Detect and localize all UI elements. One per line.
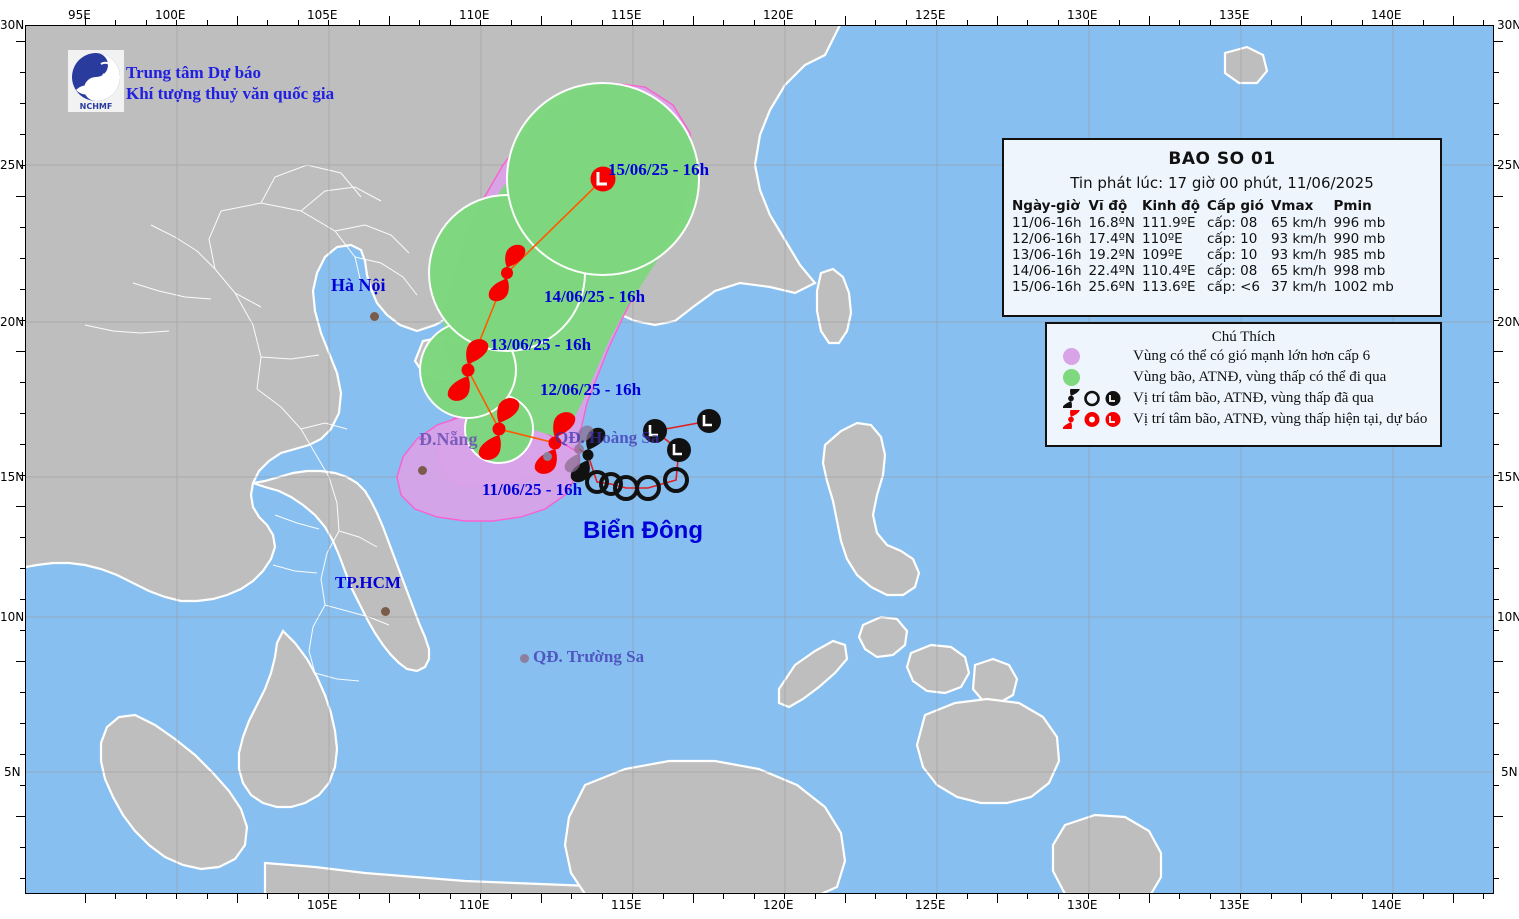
lat-tick-right [1494, 289, 1499, 290]
cell-category: cấp: 10 [1207, 247, 1271, 263]
col-pmin: Pmin [1334, 198, 1401, 215]
lon-tick [115, 20, 116, 25]
leyte-landmass [973, 659, 1017, 703]
lon-tick-bottom [663, 894, 664, 899]
lon-tick [784, 20, 785, 25]
lon-tick [815, 20, 816, 25]
table-row: 12/06-16h 17.4ºN 110ºE cấp: 10 93 km/h 9… [1012, 231, 1401, 247]
lon-tick-bottom [389, 894, 390, 903]
lon-tick-bottom [1179, 894, 1180, 899]
lat-label-right-20N: 20N [1497, 315, 1519, 329]
table-row: 15/06-16h 25.6ºN 113.6ºE cấp: <6 37 km/h… [1012, 279, 1401, 295]
green-circle-icon [1063, 369, 1080, 386]
lat-tick-right [1494, 847, 1499, 848]
lat-tick [16, 41, 25, 42]
lon-tick-bottom [1423, 894, 1424, 899]
forecast-label-11-06: 11/06/25 - 16h [482, 480, 582, 500]
lat-label-right-30N: 30N [1497, 18, 1519, 32]
lon-label-115E: 115E [611, 8, 642, 22]
lat-tick [20, 103, 25, 104]
col-lat: Vĩ độ [1089, 198, 1143, 215]
lon-tick [693, 16, 694, 25]
lon-tick [1119, 20, 1120, 25]
lon-tick [723, 20, 724, 25]
lon-tick-bottom [875, 894, 876, 899]
cell-pmin: 990 mb [1334, 231, 1401, 247]
cell-category: cấp: <6 [1207, 279, 1271, 295]
legend-swatch-green-circle [1055, 369, 1133, 386]
lon-tick [480, 20, 481, 25]
lon-tick [906, 20, 907, 25]
nchmf-logo-svg: NCHMF [68, 50, 124, 112]
lat-tick [16, 661, 25, 662]
lat-tick-right [1494, 320, 1499, 321]
lon-tick [936, 20, 937, 25]
lat-tick-right [1494, 599, 1499, 600]
legend-label-wind-zone: Vùng có thể có gió mạnh lớn hơn cấp 6 [1133, 348, 1370, 365]
legend-panel: Chú Thích Vùng có thể có gió mạnh lớn hơ… [1045, 322, 1442, 447]
lat-tick [20, 692, 25, 693]
lon-tick [419, 20, 420, 25]
lon-label-bottom-115E: 115E [611, 898, 642, 912]
lon-tick [571, 20, 572, 25]
lon-tick-bottom [1058, 894, 1059, 899]
lon-label-120E: 120E [763, 8, 794, 22]
legend-swatch-violet-circle [1055, 348, 1133, 365]
lon-tick-bottom [1210, 894, 1211, 899]
lat-tick-right [1494, 72, 1499, 73]
lat-tick [20, 568, 25, 569]
lat-label-left-15N: 15N [0, 470, 24, 484]
lon-label-105E: 105E [307, 8, 338, 22]
lat-label-right-25N: 25N [1497, 158, 1519, 172]
lon-tick [359, 20, 360, 25]
lon-tick-bottom [997, 894, 998, 903]
lon-tick-bottom [1271, 894, 1272, 899]
lon-tick [1027, 20, 1028, 25]
lat-tick [16, 816, 25, 817]
low-red-icon [1106, 412, 1121, 427]
lon-tick-bottom [1483, 894, 1484, 899]
lat-tick-right [1494, 258, 1499, 259]
lon-tick [845, 16, 846, 25]
lon-tick [602, 20, 603, 25]
lon-tick [1301, 16, 1302, 25]
cell-lat: 17.4ºN [1089, 231, 1143, 247]
lat-tick [20, 72, 25, 73]
lat-label-left-30N: 30N [0, 18, 24, 32]
lon-tick-bottom [146, 894, 147, 899]
lat-tick-right [1494, 568, 1499, 569]
cell-lat: 16.8ºN [1089, 215, 1143, 231]
lat-tick [20, 878, 25, 879]
lon-tick [267, 20, 268, 25]
legend-swatch-red-symbols [1055, 410, 1133, 429]
lat-tick [20, 754, 25, 755]
lon-label-bottom-105E: 105E [307, 898, 338, 912]
lon-tick-bottom [328, 894, 329, 899]
lon-tick [389, 16, 390, 25]
lat-tick-right [1494, 661, 1503, 662]
cell-pmin: 996 mb [1334, 215, 1401, 231]
storm-title: BAO SO 01 [1004, 149, 1440, 169]
lat-tick-right [1494, 475, 1499, 476]
cell-pmin: 1002 mb [1334, 279, 1401, 295]
lon-tick-bottom [1088, 894, 1089, 899]
city-label-tphcm: TP.HCM [335, 573, 401, 593]
low-black-icon [1106, 391, 1121, 406]
lat-tick [20, 599, 25, 600]
lat-tick [20, 227, 25, 228]
legend-swatch-black-symbols [1055, 389, 1133, 408]
nchmf-logo: NCHMF [68, 50, 124, 112]
cell-vmax: 93 km/h [1271, 231, 1334, 247]
island-label-truongsa: QĐ. Trường Sa [533, 647, 644, 667]
lon-tick-bottom [1331, 894, 1332, 899]
forecast-label-13-06: 13/06/25 - 16h [490, 335, 591, 355]
lon-tick-bottom [450, 894, 451, 899]
lon-tick [967, 20, 968, 25]
lat-tick [20, 320, 25, 321]
cell-lon: 111.9ºE [1142, 215, 1207, 231]
forecast-table-header-row: Ngày-giờ Vĩ độ Kinh độ Cấp gió Vmax Pmin [1012, 198, 1401, 215]
lon-tick-bottom [723, 894, 724, 899]
cell-datetime: 14/06-16h [1012, 263, 1089, 279]
lon-label-bottom-130E: 130E [1067, 898, 1098, 912]
lon-tick [1271, 20, 1272, 25]
lat-tick-right [1494, 878, 1499, 879]
lon-tick [1149, 16, 1150, 25]
lat-label-right-15N: 15N [1497, 470, 1519, 484]
lat-tick-right [1494, 165, 1499, 166]
lat-tick [20, 444, 25, 445]
legend-row-wind-zone: Vùng có thể có gió mạnh lớn hơn cấp 6 [1055, 346, 1440, 367]
sea-name-label: Biển Đông [583, 517, 703, 545]
lat-tick [16, 196, 25, 197]
cell-category: cấp: 08 [1207, 215, 1271, 231]
org-name-caption: Trung tâm Dự báo Khí tượng thuỷ văn quốc… [126, 62, 334, 104]
lat-tick [20, 847, 25, 848]
lon-tick-bottom [784, 894, 785, 899]
lon-tick-bottom [419, 894, 420, 899]
col-category: Cấp gió [1207, 198, 1271, 215]
org-name-line1: Trung tâm Dự báo [126, 62, 334, 83]
lon-tick [1483, 20, 1484, 25]
city-dot-danang [418, 466, 427, 475]
lat-tick-right [1494, 103, 1499, 104]
lat-tick-right [1494, 351, 1503, 352]
lon-tick-bottom [480, 894, 481, 899]
lat-tick-right [1494, 785, 1499, 786]
lon-tick [176, 20, 177, 25]
lon-label-bottom-110E: 110E [459, 898, 490, 912]
lat-tick [20, 134, 25, 135]
lon-tick-bottom [1453, 894, 1454, 903]
cell-vmax: 65 km/h [1271, 263, 1334, 279]
legend-label-current-forecast: Vị trí tâm bão, ATNĐ, vùng thấp hiện tại… [1133, 411, 1427, 428]
lat-tick-right [1494, 537, 1499, 538]
legend-label-past-positions: Vị trí tâm bão, ATNĐ, vùng thấp đã qua [1133, 390, 1374, 407]
lon-tick-bottom [693, 894, 694, 903]
circle-red-icon [1085, 412, 1100, 427]
lat-tick [20, 258, 25, 259]
lon-tick [1453, 16, 1454, 25]
lat-label-right-5N: 5N [1501, 765, 1518, 779]
cell-pmin: 985 mb [1334, 247, 1401, 263]
lon-label-bottom-135E: 135E [1219, 898, 1250, 912]
lat-tick-right [1494, 382, 1499, 383]
lon-tick-bottom [1149, 894, 1150, 903]
lon-tick-bottom [359, 894, 360, 899]
table-row: 13/06-16h 19.2ºN 109ºE cấp: 10 93 km/h 9… [1012, 247, 1401, 263]
cell-lon: 110.4ºE [1142, 263, 1207, 279]
lon-tick [237, 16, 238, 25]
violet-circle-icon [1063, 348, 1080, 365]
lat-tick [20, 537, 25, 538]
city-dot-hanoi [370, 312, 379, 321]
lon-tick-bottom [541, 894, 542, 903]
lon-tick [1210, 20, 1211, 25]
cell-lat: 19.2ºN [1089, 247, 1143, 263]
forecast-label-12-06: 12/06/25 - 16h [540, 380, 641, 400]
island-label-hoangsa: QĐ. Hoàng Sa [555, 428, 659, 448]
lat-tick-right [1494, 444, 1499, 445]
storm-info-panel: BAO SO 01 Tin phát lúc: 17 giờ 00 phút, … [1002, 138, 1442, 317]
city-label-hanoi: Hà Nội [331, 275, 386, 296]
cell-lat: 25.6ºN [1089, 279, 1143, 295]
lon-tick [997, 16, 998, 25]
lat-tick [16, 506, 25, 507]
legend-label-track-zone: Vùng bão, ATNĐ, vùng thấp có thể đi qua [1133, 369, 1386, 386]
lon-tick-bottom [571, 894, 572, 899]
lat-tick [20, 289, 25, 290]
lat-label-left-5N: 5N [4, 765, 21, 779]
lon-tick [298, 20, 299, 25]
lon-tick [754, 20, 755, 25]
cell-lon: 113.6ºE [1142, 279, 1207, 295]
cell-datetime: 12/06-16h [1012, 231, 1089, 247]
cell-lat: 22.4ºN [1089, 263, 1143, 279]
lon-tick [450, 20, 451, 25]
legend-row-past-positions: Vị trí tâm bão, ATNĐ, vùng thấp đã qua [1055, 388, 1440, 409]
lon-tick-bottom [632, 894, 633, 899]
lon-tick-bottom [845, 894, 846, 903]
lon-tick [1179, 20, 1180, 25]
lon-tick-bottom [267, 894, 268, 899]
lat-label-left-10N: 10N [0, 610, 24, 624]
cell-pmin: 998 mb [1334, 263, 1401, 279]
cell-category: cấp: 08 [1207, 263, 1271, 279]
lat-label-left-20N: 20N [0, 315, 24, 329]
lon-label-bottom-125E: 125E [915, 898, 946, 912]
cyclone-black-icon [1063, 389, 1080, 408]
lon-tick [1240, 20, 1241, 25]
lon-tick-bottom [1027, 894, 1028, 899]
lon-tick-bottom [176, 894, 177, 899]
lon-label-140E: 140E [1371, 8, 1402, 22]
lat-tick [20, 630, 25, 631]
lon-tick-bottom [602, 894, 603, 899]
forecast-label-15-06: 15/06/25 - 16h [608, 160, 709, 180]
lon-tick-bottom [207, 894, 208, 899]
lon-tick-bottom [906, 894, 907, 899]
logo-acronym: NCHMF [80, 102, 113, 111]
lon-tick-bottom [511, 894, 512, 899]
legend-title: Chú Thích [1047, 329, 1440, 346]
lat-tick-right [1494, 227, 1499, 228]
lon-tick [511, 20, 512, 25]
lon-tick [328, 20, 329, 25]
island-dot-hoangsa [543, 452, 552, 461]
lon-tick-bottom [237, 894, 238, 903]
cell-vmax: 93 km/h [1271, 247, 1334, 263]
lat-tick [20, 723, 25, 724]
city-label-danang: Đ.Nẵng [419, 429, 478, 450]
cell-datetime: 15/06-16h [1012, 279, 1089, 295]
lat-tick-right [1494, 413, 1499, 414]
cyclone-red-icon [1063, 410, 1080, 429]
lon-tick-bottom [936, 894, 937, 899]
city-dot-tphcm [381, 607, 390, 616]
lon-tick-bottom [1392, 894, 1393, 899]
lon-tick [1362, 20, 1363, 25]
lat-tick [20, 382, 25, 383]
forecast-label-14-06: 14/06/25 - 16h [544, 287, 645, 307]
lat-tick [20, 475, 25, 476]
circle-black-icon [1086, 392, 1099, 405]
lon-label-125E: 125E [915, 8, 946, 22]
lon-tick-bottom [85, 894, 86, 903]
col-vmax: Vmax [1271, 198, 1334, 215]
lon-label-110E: 110E [459, 8, 490, 22]
lat-tick-right [1494, 630, 1499, 631]
table-row: 11/06-16h 16.8ºN 111.9ºE cấp: 08 65 km/h… [1012, 215, 1401, 231]
storm-track-map-screenshot: 11/06/25 - 16h 12/06/25 - 16h 13/06/25 -… [0, 0, 1519, 919]
red-symbol-set-icon [1063, 410, 1125, 429]
lon-tick [1088, 20, 1089, 25]
lon-tick [85, 16, 86, 25]
black-symbol-set-icon [1063, 389, 1125, 408]
lon-tick [1058, 20, 1059, 25]
lon-tick-bottom [1119, 894, 1120, 899]
lon-tick [541, 16, 542, 25]
lat-tick [20, 785, 25, 786]
lat-tick-right [1494, 692, 1499, 693]
cell-category: cấp: 10 [1207, 231, 1271, 247]
lon-tick-bottom [115, 894, 116, 899]
cell-vmax: 37 km/h [1271, 279, 1334, 295]
lon-label-100E: 100E [155, 8, 186, 22]
lat-tick [20, 165, 25, 166]
lon-tick-bottom [967, 894, 968, 899]
lat-tick [16, 351, 25, 352]
forecast-table: Ngày-giờ Vĩ độ Kinh độ Cấp gió Vmax Pmin… [1012, 198, 1401, 295]
col-lon: Kinh độ [1142, 198, 1207, 215]
lat-tick [20, 413, 25, 414]
lon-tick-bottom [1240, 894, 1241, 899]
lon-tick [1331, 20, 1332, 25]
island-dot-truongsa [520, 654, 529, 663]
cell-lon: 109ºE [1142, 247, 1207, 263]
lat-label-right-10N: 10N [1497, 610, 1519, 624]
legend-row-track-zone: Vùng bão, ATNĐ, vùng thấp có thể đi qua [1055, 367, 1440, 388]
lon-tick [663, 20, 664, 25]
lon-tick [207, 20, 208, 25]
lon-label-135E: 135E [1219, 8, 1250, 22]
lat-tick-right [1494, 723, 1499, 724]
lon-label-bottom-140E: 140E [1371, 898, 1402, 912]
lat-tick-right [1494, 134, 1499, 135]
cell-vmax: 65 km/h [1271, 215, 1334, 231]
lon-tick-bottom [754, 894, 755, 899]
lon-label-bottom-120E: 120E [763, 898, 794, 912]
lat-tick-right [1494, 506, 1503, 507]
lon-tick [875, 20, 876, 25]
lon-label-130E: 130E [1067, 8, 1098, 22]
col-datetime: Ngày-giờ [1012, 198, 1089, 215]
issued-time: Tin phát lúc: 17 giờ 00 phút, 11/06/2025 [1004, 174, 1440, 192]
table-row: 14/06-16h 22.4ºN 110.4ºE cấp: 08 65 km/h… [1012, 263, 1401, 279]
lon-tick-bottom [1362, 894, 1363, 899]
org-name-line2: Khí tượng thuỷ văn quốc gia [126, 83, 334, 104]
lon-tick [632, 20, 633, 25]
lon-tick [1392, 20, 1393, 25]
lon-tick [1423, 20, 1424, 25]
lat-tick-right [1494, 41, 1503, 42]
lon-tick [146, 20, 147, 25]
lat-tick-right [1494, 754, 1499, 755]
cell-datetime: 13/06-16h [1012, 247, 1089, 263]
lon-tick-bottom [815, 894, 816, 899]
legend-row-current-forecast: Vị trí tâm bão, ATNĐ, vùng thấp hiện tại… [1055, 409, 1440, 430]
lon-tick-bottom [1301, 894, 1302, 903]
lat-tick-right [1494, 196, 1503, 197]
lon-tick-bottom [298, 894, 299, 899]
lon-label-95E: 95E [68, 8, 91, 22]
cell-datetime: 11/06-16h [1012, 215, 1089, 231]
lat-tick-right [1494, 816, 1503, 817]
cell-lon: 110ºE [1142, 231, 1207, 247]
